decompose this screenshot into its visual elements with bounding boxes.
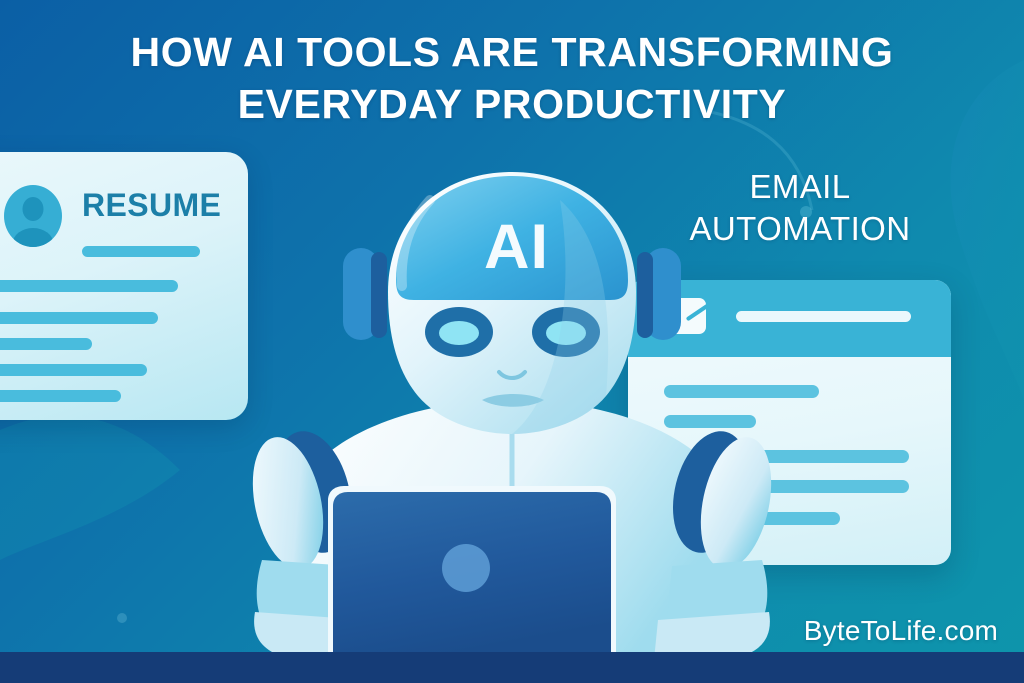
featured-image-canvas: HOW AI TOOLS ARE TRANSFORMING EVERYDAY P… bbox=[0, 0, 1024, 683]
laptop-logo bbox=[442, 544, 490, 592]
ai-badge-text: AI bbox=[484, 212, 549, 282]
site-watermark: ByteToLife.com bbox=[804, 615, 998, 647]
robot-illustration: AI bbox=[0, 0, 1024, 683]
robot-ear-inner-left bbox=[371, 252, 387, 338]
desk-band bbox=[0, 652, 1024, 683]
robot-ear-inner-right bbox=[637, 252, 653, 338]
robot-pupil-left bbox=[439, 321, 479, 345]
